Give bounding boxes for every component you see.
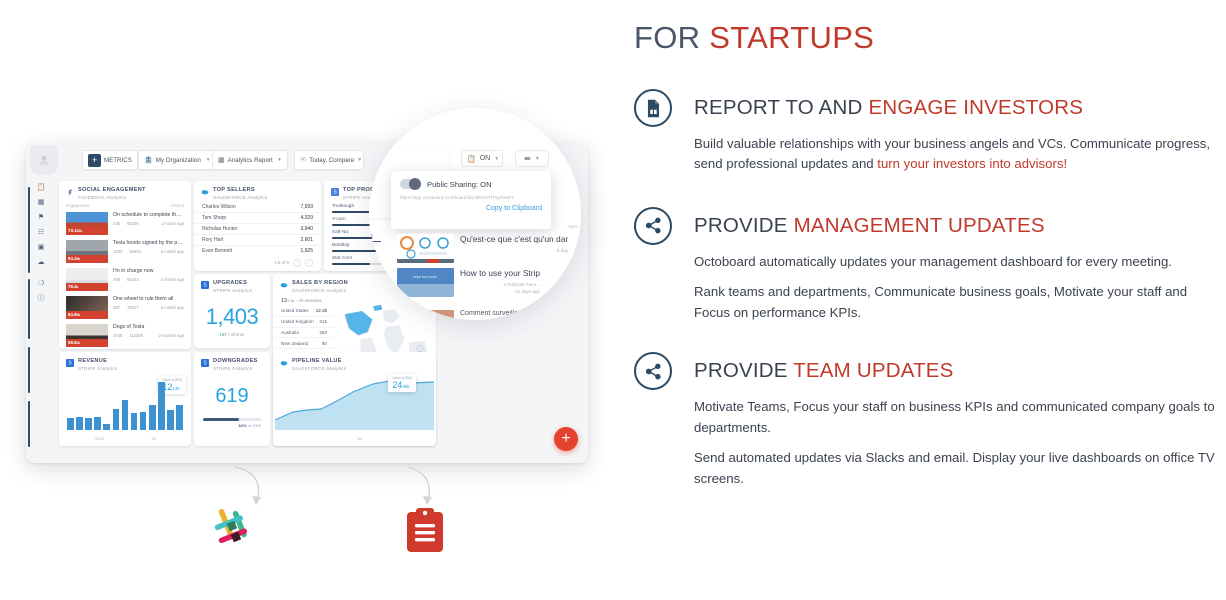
cell-value: 3,940 (300, 226, 313, 232)
magnified-side-note: com (568, 224, 577, 229)
cell-name: United States (281, 308, 309, 313)
public-sharing-label: Public Sharing: ON (427, 180, 492, 189)
next-page-button[interactable]: › (305, 259, 313, 267)
comment-count: 499 (113, 277, 120, 282)
sidebar-item-info[interactable]: ⓘ (38, 295, 45, 302)
reach-count: 55604 (129, 249, 141, 254)
sidebar-item-clipboard[interactable]: 📋 (37, 184, 46, 191)
product-screenshot-illustration: + METRICS 🏦 My Organization ▼ ▦ Analytic… (0, 0, 615, 600)
arrow-to-reports (404, 465, 440, 509)
widget-title: SOCIAL ENGAGEMENT (78, 187, 146, 194)
feature-report-investors: REPORT TO AND ENGAGE INVESTORS Build val… (634, 89, 1226, 175)
list-item[interactable]: 58.92k Dogs of Tesla 1045 112306 2 month… (59, 322, 191, 349)
cell-name: United Kingdom (281, 319, 314, 324)
social-column-headers: engagement content (59, 202, 191, 210)
sidebar-rail (28, 347, 30, 393)
cell-name: Tom Sharp (202, 215, 226, 221)
engagement-badge: 73.152k (66, 227, 108, 235)
feature-heading: PROVIDE TEAM UPDATES (694, 352, 1226, 383)
share-icon (634, 207, 672, 245)
marketing-copy: FOR STARTUPS REPORT TO AND ENGAGE INVEST… (634, 0, 1226, 600)
axis-tick-right: Jul (151, 436, 156, 441)
sidebar-item-box[interactable]: ▣ (38, 244, 45, 251)
report-clipboard-icon (405, 506, 445, 554)
widget-source: STRIPE Analytics (78, 366, 117, 371)
table-row: United Kingdom315 (273, 317, 335, 328)
cell-name: Rory Hart (202, 237, 223, 243)
salesforce-icon (280, 281, 288, 289)
post-thumbnail: 78.4k (66, 268, 108, 291)
share-icon: ⇚ (524, 154, 531, 163)
dashboard-sidebar: 📋 ▦ ⚑ ☷ ▣ ☁ ❍ ⓘ (28, 179, 54, 461)
post-title: Comment surveiller les métriq... (460, 310, 558, 317)
tooltip-value: 24 (392, 380, 402, 390)
snapshot-label: ON (480, 155, 491, 162)
widget-title: UPGRADES (213, 280, 252, 287)
salesforce-icon (280, 359, 288, 367)
sidebar-rail (28, 187, 30, 273)
progress-pct: 62% (239, 423, 247, 428)
widget-title: TOP SELLERS (213, 187, 267, 194)
tooltip-unit: 35k (402, 384, 409, 389)
widget-source: SALESFORCE Analytics (213, 195, 267, 200)
bank-icon: 🏦 (144, 156, 153, 164)
sidebar-rail (28, 279, 30, 339)
downgrades-value: 619 (194, 385, 270, 408)
post-title: How to use your Strip (460, 268, 540, 278)
table-row: Evan Bennett1,925 (194, 246, 321, 256)
widget-title: REVENUE (78, 358, 117, 365)
engagement-badge: 84.85k (66, 311, 108, 319)
sidebar-item-card[interactable]: ☷ (38, 229, 44, 236)
date-range-label: Today, Compare (309, 157, 354, 164)
organization-selector[interactable]: 🏦 My Organization ▼ (138, 150, 217, 170)
sidebar-item-grid[interactable]: ▦ (38, 199, 45, 206)
table-row: Nicholas Hunter3,940 (194, 224, 321, 235)
page-title: FOR STARTUPS (634, 20, 1226, 56)
sidebar-item-bell[interactable]: ⚑ (38, 214, 44, 221)
col-left-label: engagement (66, 203, 89, 208)
table-row: New Zealand80 (273, 338, 335, 349)
widget-upgrades[interactable]: S UPGRADES STRIPE Analytics 1,403 167 / … (194, 274, 270, 348)
feature-team-updates: PROVIDE TEAM UPDATES Motivate Teams, Foc… (634, 352, 1226, 489)
public-sharing-popup: Public Sharing: ON https://app.octoboard… (391, 171, 551, 229)
list-item[interactable]: 84.85k One wheel to rule them all 397 75… (59, 294, 191, 322)
prev-page-button[interactable]: ‹ (293, 259, 301, 267)
upgrades-delta-suffix: / all time (228, 332, 244, 337)
feature-body: Octoboard automatically updates your man… (694, 252, 1226, 323)
revenue-bar-chart (67, 382, 183, 430)
page-root: + METRICS 🏦 My Organization ▼ ▦ Analytic… (0, 0, 1226, 600)
list-item[interactable]: 78.4k I'm in charge now 499 66423 a mont… (59, 266, 191, 294)
post-title: I'm in charge now (113, 268, 184, 274)
sidebar-item-help[interactable]: ❍ (38, 280, 44, 287)
axis-tick-right: Jul (357, 436, 362, 441)
engagement-badge: 94.25k (66, 255, 108, 263)
heading-prefix: REPORT TO AND (694, 96, 868, 119)
feature-body: Build valuable relationships with your b… (694, 134, 1226, 175)
paragraph: Build valuable relationships with your b… (694, 134, 1226, 175)
cell-name: Nicholas Hunter (202, 226, 238, 232)
feature-body: Motivate Teams, Focus your staff on busi… (694, 397, 1226, 489)
comment-count: 397 (113, 305, 120, 310)
table-row: Rory Hart2,601 (194, 235, 321, 246)
add-widget-fab[interactable]: + (554, 427, 578, 451)
post-title: Dogs of Tesla (113, 324, 184, 330)
pipeline-tooltip: value (USD) 2435k (388, 374, 416, 392)
list-item[interactable]: stripe test mode How to use your Strip a… (397, 268, 540, 297)
post-thumbnail: stripe test mode (397, 268, 454, 297)
table-row: United States12.3k (273, 306, 335, 317)
timestamp: a month ago (161, 305, 184, 310)
slack-logo-icon (210, 505, 258, 553)
clipboard-icon: 📋 (467, 155, 476, 163)
timestamp: a month ago (161, 277, 184, 282)
list-item[interactable]: Qu'est-ce que c'est qu'un dar 8 day (397, 234, 568, 263)
cell-value: 12.3k (316, 308, 327, 313)
sidebar-rail (28, 401, 30, 447)
cell-value: 250 (319, 330, 327, 335)
chevron-down-icon: ▼ (206, 157, 211, 163)
salesforce-icon (201, 188, 209, 196)
timestamp: 2 months ago (159, 333, 184, 338)
metrics-label: METRICS (104, 157, 132, 164)
widget-pipeline-value[interactable]: PIPELINE VALUE SALESFORCE Analytics valu… (273, 352, 436, 446)
cell-name: Australia (281, 330, 299, 335)
reach-count: 66423 (127, 277, 139, 282)
comment-count: 1045 (113, 333, 122, 338)
upgrades-delta: 167 (220, 332, 227, 337)
axis-tick-left: 2018 (95, 436, 104, 441)
heading-prefix: PROVIDE (694, 359, 793, 382)
cell-name: Charles Wilson (202, 204, 236, 210)
post-title: Qu'est-ce que c'est qu'un dar (460, 234, 568, 244)
share-url: https://app.octoboard.com/board/dqY8DmGf… (400, 195, 542, 200)
cell-value: 1,925 (300, 248, 313, 254)
comment-count: 436 (113, 221, 120, 226)
stripe-icon: S (331, 188, 339, 196)
svg-text:stripe test mode: stripe test mode (413, 275, 437, 279)
public-sharing-toggle[interactable] (400, 179, 420, 189)
magnified-share-button[interactable]: ⇚ ▼ (515, 150, 549, 167)
clock-icon: ☉ (300, 156, 306, 164)
paragraph: Rank teams and departments, Communicate … (694, 282, 1226, 323)
stripe-icon: S (66, 359, 74, 367)
cell-name: Evan Bennett (202, 248, 232, 254)
post-thumbnail: 94.25k (66, 240, 108, 263)
stripe-icon: S (201, 359, 209, 367)
widget-title: DOWNGRADES (213, 358, 258, 365)
paragraph: Send automated updates via Slacks and em… (694, 448, 1226, 489)
svg-text:☉: ☉ (419, 347, 422, 351)
post-note: a Publicité Face... (460, 282, 540, 287)
comment-count: 1933 (113, 249, 122, 254)
widget-top-sellers[interactable]: TOP SELLERS SALESFORCE Analytics Charles… (194, 181, 321, 271)
post-title: On schedule to complete the l... (113, 212, 184, 218)
widget-source: FACEBOOK Analytics (78, 195, 146, 200)
magnified-side-number: 13 (369, 234, 373, 241)
paragraph-highlight: turn your investors into advisors! (877, 156, 1067, 171)
heading-prefix: PROVIDE (694, 214, 794, 237)
widget-downgrades[interactable]: S DOWNGRADES STRIPE Analytics 619 62% (194, 352, 270, 446)
report-label: Analytics Report (228, 157, 273, 164)
heading-highlight: MANAGEMENT UPDATES (794, 214, 1045, 237)
reach-count: 112306 (129, 333, 143, 338)
post-thumbnail: 58.92k (66, 324, 108, 347)
post-thumbnail (397, 234, 454, 263)
post-thumbnail: 73.152k (66, 212, 108, 235)
cell-name: New Zealand (281, 341, 308, 346)
organization-label: My Organization (156, 157, 201, 164)
pagination-label: 1-5 of 9 (274, 260, 289, 265)
widget-source: STRIPE Analytics (213, 288, 252, 293)
timestamp: 8 day (460, 248, 568, 253)
date-range-selector[interactable]: ☉ Today, Compare ▼ (294, 150, 364, 170)
cell-value: 80 (322, 341, 327, 346)
post-title: One wheel to rule them all (113, 296, 184, 302)
chevron-down-icon: ▼ (494, 156, 499, 162)
reach-count: 65200 (127, 221, 139, 226)
post-thumbnail: 84.85k (66, 296, 108, 319)
table-row: Tom Sharp4,329 (194, 213, 321, 224)
timestamp: 2 hours ago (162, 221, 184, 226)
list-item[interactable]: Comment surveiller les métriq... (397, 310, 558, 320)
progress-of: of 1000 (248, 423, 261, 428)
chevron-down-icon: ▼ (277, 157, 282, 163)
widget-social-engagement[interactable]: SOCIAL ENGAGEMENT FACEBOOK Analytics eng… (59, 181, 191, 349)
engagement-badge: 58.92k (66, 339, 108, 347)
heading-highlight: TEAM UPDATES (793, 359, 953, 382)
sidebar-item-bag[interactable]: ☁ (38, 259, 45, 266)
chevron-down-icon: ▼ (535, 156, 540, 162)
stripe-icon: S (201, 281, 209, 289)
table-row: Australia250 (273, 328, 335, 339)
timestamp: a month ago (161, 249, 184, 254)
chevron-down-icon: ▼ (357, 157, 362, 163)
arrow-to-slack (228, 465, 268, 509)
feature-heading: REPORT TO AND ENGAGE INVESTORS (694, 89, 1226, 120)
widget-source: SALESFORCE Analytics (292, 366, 346, 371)
engagement-badge: 78.4k (66, 283, 108, 291)
chart-icon: ▦ (218, 156, 225, 164)
reach-count: 75917 (127, 305, 139, 310)
upgrades-value: 1,403 (194, 304, 270, 330)
report-document-icon (634, 89, 672, 127)
col-right-label: content (170, 203, 184, 208)
feature-management-updates: PROVIDE MANAGEMENT UPDATES Octoboard aut… (634, 207, 1226, 323)
widget-title: PIPELINE VALUE (292, 358, 346, 365)
list-item[interactable]: 94.25k Tesla hoods signed by the pai... … (59, 238, 191, 266)
kicker-prefix: FOR (634, 20, 709, 55)
plus-icon: + (88, 154, 101, 167)
widget-revenue[interactable]: S REVENUE STRIPE Analytics value (USD) 1… (59, 352, 191, 446)
widget-source: SALESFORCE Analytics (292, 288, 348, 293)
magnified-snapshot-toggle[interactable]: 📋 ON ▼ (461, 150, 503, 167)
octoboard-logo-icon (30, 145, 58, 175)
feature-heading: PROVIDE MANAGEMENT UPDATES (694, 207, 1226, 238)
cell-value: 2,601 (300, 237, 313, 243)
post-thumbnail (397, 310, 454, 320)
facebook-icon (66, 188, 74, 196)
timestamp: 11 days ago (460, 289, 540, 294)
copy-to-clipboard-link[interactable]: Copy to Clipboard (400, 205, 542, 212)
cell-value: 4,329 (300, 215, 313, 221)
cell-value: 315 (319, 319, 327, 324)
share-icon (634, 352, 672, 390)
magnifier-lens: 13 📋 ON ▼ ⇚ ▼ Public Sharing: ON htt (369, 108, 581, 320)
widget-source: STRIPE Analytics (213, 366, 258, 371)
table-row: Charles Wilson7,593 (194, 202, 321, 213)
cell-value: 7,593 (300, 204, 313, 210)
report-selector[interactable]: ▦ Analytics Report ▼ (212, 150, 288, 170)
paragraph: Octoboard automatically updates your man… (694, 252, 1226, 272)
kicker-highlight: STARTUPS (709, 20, 874, 55)
post-title: Tesla hoods signed by the pai... (113, 240, 184, 246)
heading-highlight: ENGAGE INVESTORS (868, 96, 1083, 119)
widget-title: SALES BY REGION (292, 280, 348, 287)
metrics-button[interactable]: + METRICS (82, 150, 138, 170)
paragraph: Motivate Teams, Focus your staff on busi… (694, 397, 1226, 438)
list-item[interactable]: 73.152k On schedule to complete the l...… (59, 210, 191, 238)
